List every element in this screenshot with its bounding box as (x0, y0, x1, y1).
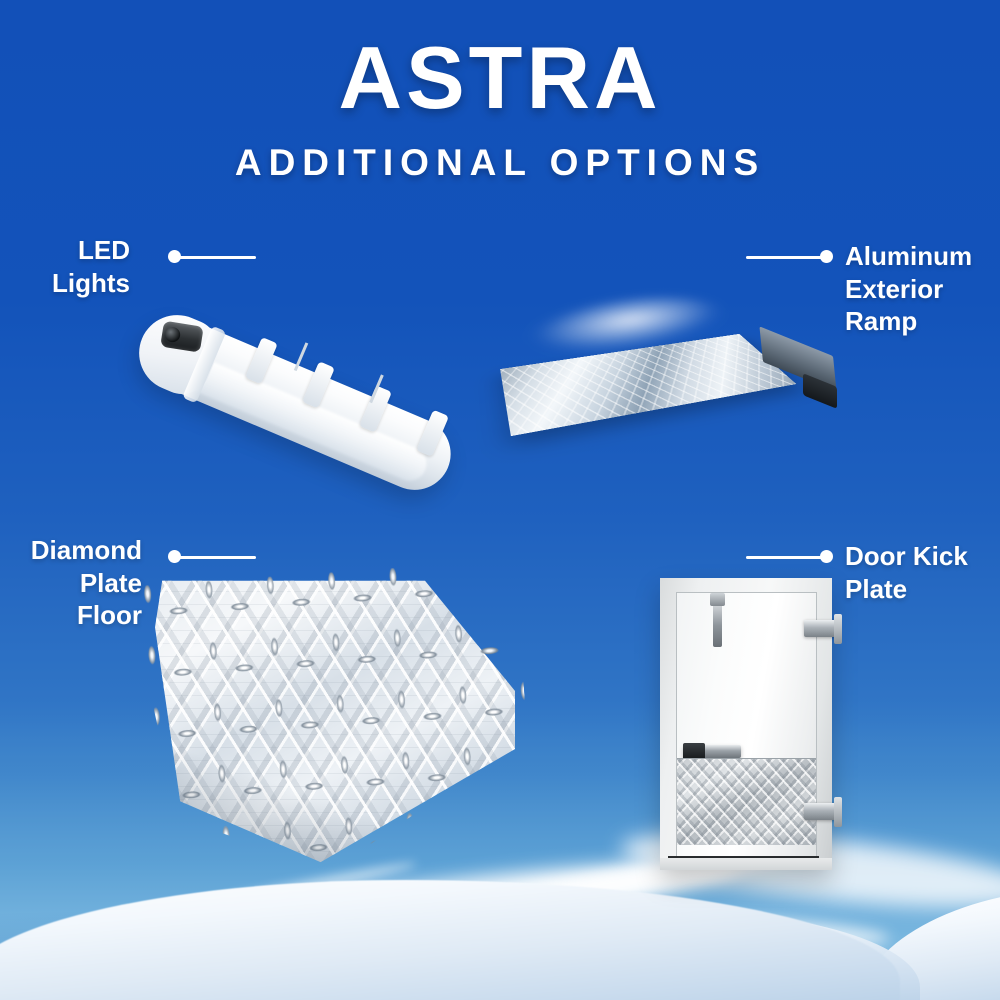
led-mount-clip-1 (245, 337, 278, 384)
door-kick-plate (677, 758, 816, 845)
poster-canvas: ASTRA ADDITIONAL OPTIONS (0, 0, 1000, 1000)
door-floor-tile (660, 858, 832, 870)
door-handle (683, 745, 741, 758)
product-diamond-plate-floor (155, 575, 515, 865)
product-led-light-fixture (130, 255, 530, 455)
callout-leader-aluminum-exterior-ramp (746, 250, 834, 264)
led-hanger-bracket-1 (294, 342, 308, 371)
leader-line (176, 556, 256, 559)
callout-leader-led-lights (168, 250, 256, 264)
product-cooler-door-kick-plate (660, 578, 832, 870)
led-housing (130, 306, 462, 501)
product-aluminum-exterior-ramp (515, 268, 855, 428)
door-panel (676, 592, 817, 858)
callout-leader-door-kick-plate (746, 550, 834, 564)
callout-label-aluminum-exterior-ramp: Aluminum Exterior Ramp (845, 240, 1000, 338)
leader-dot (820, 250, 833, 263)
leader-line (176, 256, 256, 259)
poster-title: ASTRA (0, 34, 1000, 122)
callout-label-door-kick-plate: Door Kick Plate (845, 540, 1000, 605)
door-top-latch-rod (713, 603, 722, 647)
ramp-tread-surface (500, 334, 796, 436)
callout-label-led-lights: LED Lights (0, 234, 130, 299)
poster-subtitle: ADDITIONAL OPTIONS (0, 144, 1000, 181)
led-mount-clip-2 (302, 361, 335, 408)
leader-dot (820, 550, 833, 563)
snow-peak-shadow (120, 948, 540, 1000)
door-hinge-bottom (804, 803, 836, 820)
leader-line (746, 256, 826, 259)
callout-leader-diamond-plate-floor (168, 550, 256, 564)
callout-label-diamond-plate-floor: Diamond Plate Floor (0, 534, 142, 632)
leader-line (746, 556, 826, 559)
door-hinge-top (804, 620, 836, 637)
led-mount-clip-4 (416, 410, 449, 457)
